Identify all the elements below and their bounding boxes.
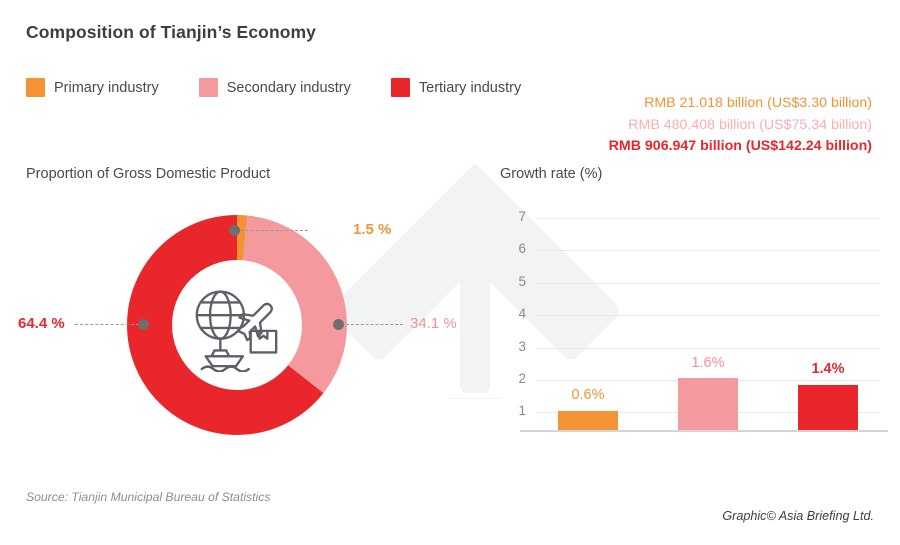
legend-label-tertiary: Tertiary industry [419,80,521,96]
leader-dot-primary [229,225,240,236]
bar-label-primary: 0.6% [558,387,618,403]
square-swatch-icon [26,78,45,97]
infographic-canvas: Composition of Tianjin’s Economy Primary… [0,0,900,545]
square-swatch-icon [391,78,410,97]
value-tertiary: RMB 906.947 billion (US$142.24 billion) [609,136,872,158]
legend: Primary industry Secondary industry Tert… [26,78,561,97]
bar-label-secondary: 1.6% [678,355,738,371]
ytick-6: 6 [500,241,526,256]
donut-label-secondary: 34.1 % [410,315,457,332]
global-trade-logistics-icon [188,278,286,372]
leader-dot-tertiary [138,319,149,330]
leader-line-tertiary [75,324,139,325]
ytick-1: 1 [500,403,526,418]
gridline-5 [536,283,880,284]
value-secondary: RMB 480.408 billion (US$75.34 billion) [609,115,872,137]
ytick-2: 2 [500,371,526,386]
leader-line-secondary [346,324,403,325]
donut-label-primary: 1.5 % [353,221,391,238]
page-title: Composition of Tianjin’s Economy [26,22,316,43]
gridline-3 [536,348,880,349]
value-callouts: RMB 21.018 billion (US$3.30 billion) RMB… [609,93,872,158]
ytick-7: 7 [500,209,526,224]
gridline-7 [536,218,880,219]
source-note: Source: Tianjin Municipal Bureau of Stat… [26,490,270,504]
gridline-6 [536,250,880,251]
legend-label-secondary: Secondary industry [227,80,351,96]
x-axis-baseline [520,430,888,432]
leader-line-primary [236,230,308,231]
ytick-3: 3 [500,339,526,354]
bar-primary [558,411,618,430]
leader-dot-secondary [333,319,344,330]
bar-tertiary [798,385,858,430]
ytick-4: 4 [500,306,526,321]
legend-label-primary: Primary industry [54,80,159,96]
bar-chart-heading: Growth rate (%) [500,166,602,182]
square-swatch-icon [199,78,218,97]
legend-item-secondary: Secondary industry [199,78,351,97]
graphic-credit: Graphic© Asia Briefing Ltd. [722,509,874,523]
bar-chart: 7 6 5 4 3 2 1 0.6% 1.6% 1.4% [500,205,880,440]
legend-item-tertiary: Tertiary industry [391,78,521,97]
bar-secondary [678,378,738,430]
value-primary: RMB 21.018 billion (US$3.30 billion) [609,93,872,115]
bar-label-tertiary: 1.4% [798,361,858,377]
gridline-4 [536,315,880,316]
donut-label-tertiary: 64.4 % [18,315,65,332]
donut-chart-heading: Proportion of Gross Domestic Product [26,166,270,182]
ytick-5: 5 [500,274,526,289]
legend-item-primary: Primary industry [26,78,159,97]
